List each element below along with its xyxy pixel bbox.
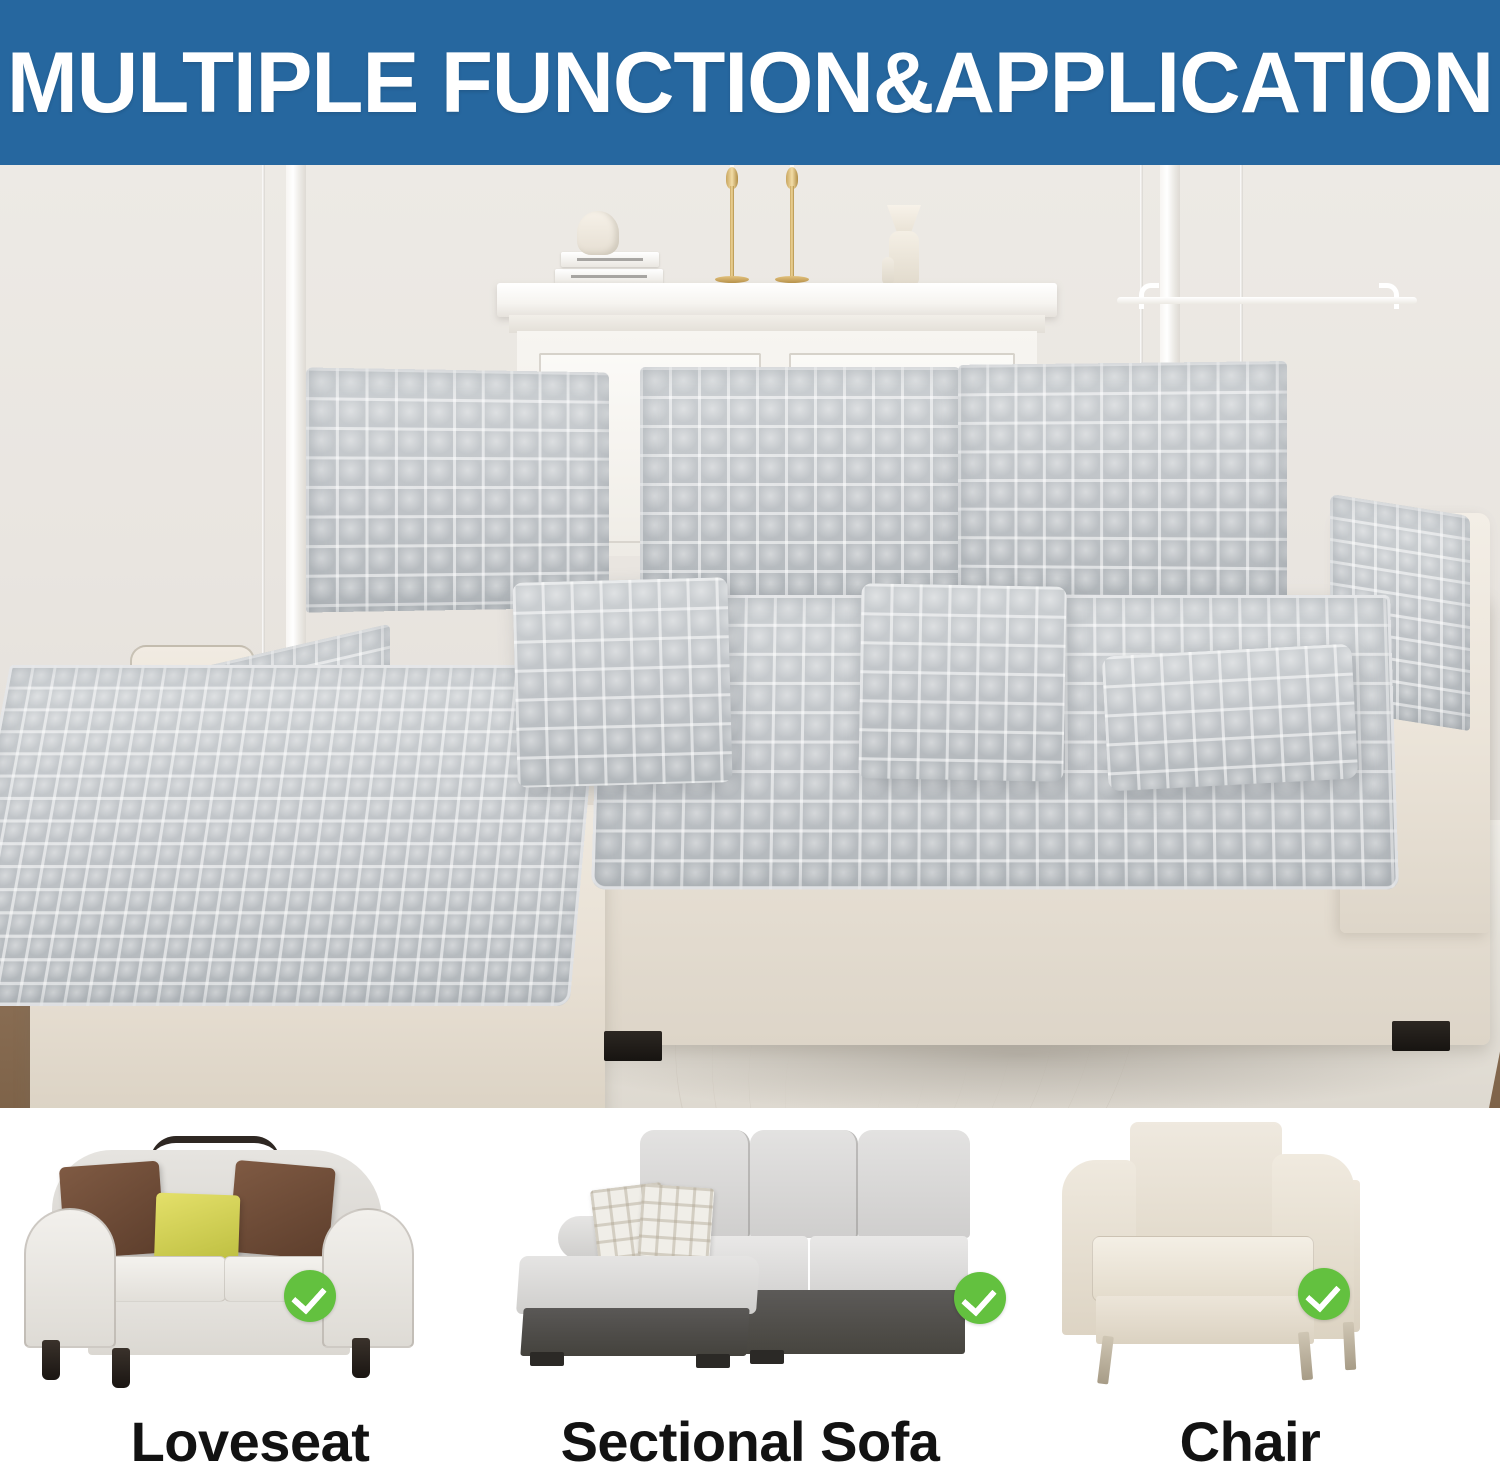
loveseat-illustration xyxy=(0,1108,500,1376)
back-cushion-cover-right xyxy=(958,361,1287,605)
armchair-illustration xyxy=(1000,1108,1500,1376)
throw-pillow-center xyxy=(858,583,1066,782)
compatible-check-badge xyxy=(284,1270,336,1322)
header-banner: MULTIPLE FUNCTION&APPLICATION xyxy=(0,0,1500,165)
loveseat-pillow xyxy=(228,1160,336,1260)
back-cushion-cover-center xyxy=(640,367,960,602)
sectional-chaise-base xyxy=(520,1308,749,1356)
variant-label-sectional-sofa: Sectional Sofa xyxy=(500,1414,1000,1470)
loveseat-cushion xyxy=(104,1256,226,1302)
loveseat-arm xyxy=(322,1208,414,1348)
sofa-foot xyxy=(604,1031,662,1061)
sofa-foot xyxy=(1392,1021,1450,1051)
sectional-seat-cushion xyxy=(810,1236,968,1298)
sectional-sofa-illustration xyxy=(500,1108,1000,1376)
variant-label-loveseat: Loveseat xyxy=(0,1414,500,1470)
sectional-backrest xyxy=(858,1130,970,1238)
variant-loveseat[interactable]: Loveseat xyxy=(0,1108,500,1464)
variant-sectional-sofa[interactable]: Sectional Sofa xyxy=(500,1108,1000,1464)
variant-label-chair: Chair xyxy=(1000,1414,1500,1470)
chair-apron xyxy=(1096,1296,1314,1344)
seat-cover-chaise xyxy=(0,665,600,1006)
banner-title: MULTIPLE FUNCTION&APPLICATION xyxy=(8,0,1493,165)
chair-seat-cushion xyxy=(1092,1236,1314,1302)
sectional-backrest xyxy=(750,1130,858,1238)
loveseat-arm xyxy=(24,1208,116,1348)
compatible-check-badge xyxy=(1298,1268,1350,1320)
throw-pillow-left xyxy=(512,577,732,788)
hero-product-photo xyxy=(0,165,1500,1108)
sectional-sofa xyxy=(0,165,1500,1108)
sectional-pillow xyxy=(638,1184,715,1261)
sectional-chaise xyxy=(516,1256,760,1314)
compatible-furniture-row: Loveseat Sectional Sofa xyxy=(0,1108,1500,1464)
back-cushion-cover-left xyxy=(306,367,609,612)
lumbar-pillow-right xyxy=(1102,644,1359,792)
variant-chair[interactable]: Chair xyxy=(1000,1108,1500,1464)
compatible-check-badge xyxy=(954,1272,1006,1324)
chair-backrest xyxy=(1130,1122,1282,1250)
